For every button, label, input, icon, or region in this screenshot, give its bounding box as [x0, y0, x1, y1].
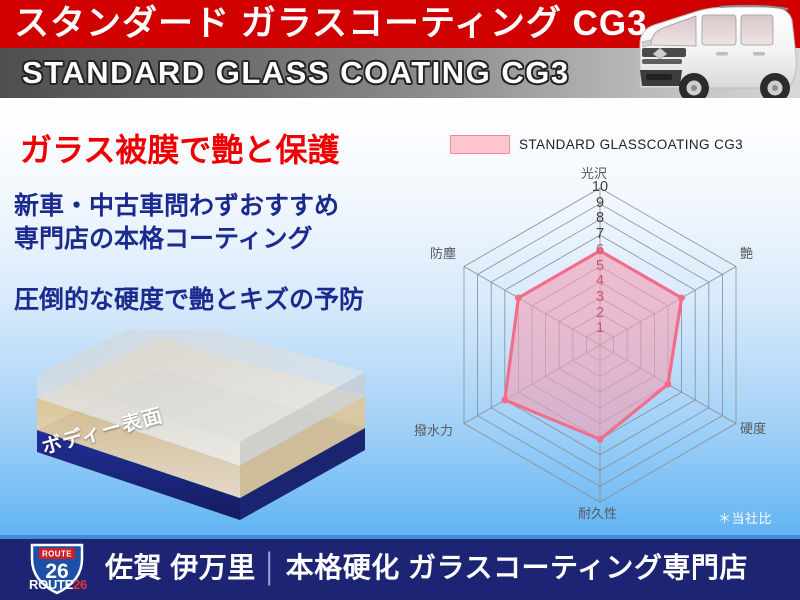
- sub-copy-line-2: 専門店の本格コーティング: [14, 223, 339, 256]
- chart-footnote: ＊当社比: [718, 508, 772, 527]
- axis-label-water-repellency: 撥水力: [414, 420, 453, 439]
- radar-tick-9: 9: [589, 195, 611, 211]
- route26-wordmark: ROUTE26: [20, 577, 96, 592]
- sub-copy-line-1: 新車・中古車問わずおすすめ: [14, 190, 339, 223]
- radar-tick-8: 8: [589, 210, 611, 226]
- radar-tick-3: 3: [589, 289, 611, 305]
- sub-copy-line-3: 圧倒的な硬度で艶とキズの予防: [14, 284, 364, 317]
- header-title-japanese: スタンダード ガラスコーティング CG3: [14, 2, 648, 46]
- logo-word-number: 26: [73, 577, 87, 592]
- footer-location: 佐賀 伊万里: [105, 552, 256, 583]
- poster-root: スタンダード ガラスコーティング CG3 STANDARD GLASS COAT…: [0, 0, 800, 600]
- radar-tick-6: 6: [589, 242, 611, 258]
- header-title-english: STANDARD GLASS COATING CG3: [22, 48, 570, 98]
- sub-copy-block-1: 新車・中古車問わずおすすめ 専門店の本格コーティング: [14, 190, 339, 256]
- axis-label-luster: 艶: [740, 243, 753, 262]
- main-headline: ガラス被膜で艶と保護: [20, 125, 339, 171]
- radar-chart: [440, 125, 800, 535]
- footer-divider: │: [256, 552, 286, 583]
- svg-text:ROUTE: ROUTE: [42, 550, 72, 559]
- radar-tick-2: 2: [589, 305, 611, 321]
- footer-text: 佐賀 伊万里│本格硬化 ガラスコーティング専門店: [105, 535, 748, 600]
- radar-tick-7: 7: [589, 226, 611, 242]
- radar-tick-5: 5: [589, 258, 611, 274]
- logo-word-route: ROUTE: [29, 577, 73, 592]
- axis-label-hardness: 硬度: [740, 418, 766, 437]
- axis-label-dust-proof: 防塵: [430, 243, 456, 262]
- radar-tick-1: 1: [589, 320, 611, 336]
- axis-label-durability: 耐久性: [578, 503, 617, 522]
- radar-tick-4: 4: [589, 273, 611, 289]
- minivan-icon: [620, 0, 800, 108]
- radar-tick-10: 10: [589, 179, 611, 195]
- footer-tagline: 本格硬化 ガラスコーティング専門店: [286, 552, 748, 583]
